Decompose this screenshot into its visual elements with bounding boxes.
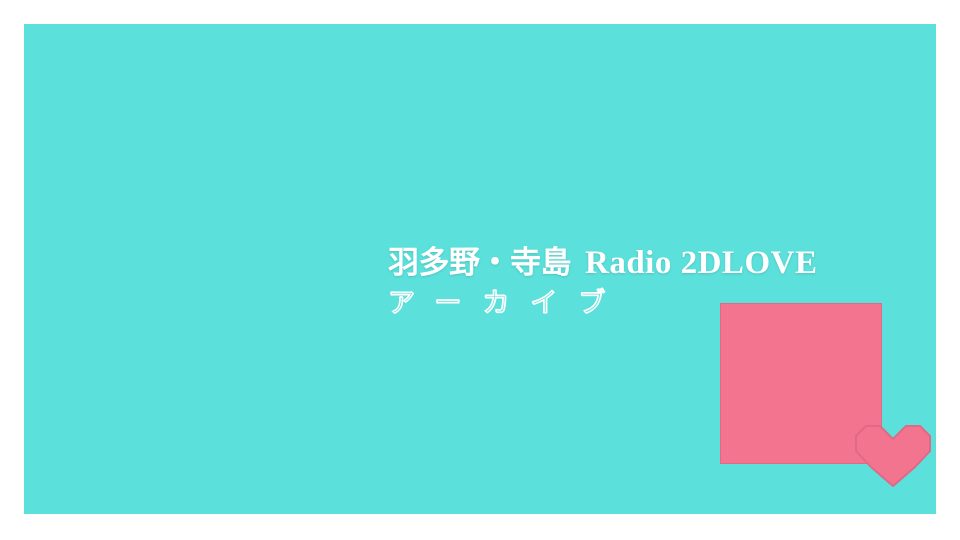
title-block: 羽多野・寺島Radio 2DLOVE アーカイブ [388,243,908,321]
page-subtitle: アーカイブ [388,287,908,321]
page-title: 羽多野・寺島Radio 2DLOVE [388,243,908,283]
teal-card-panel: 羽多野・寺島Radio 2DLOVE アーカイブ [24,24,936,514]
screen-canvas: 羽多野・寺島Radio 2DLOVE アーカイブ [0,0,960,540]
page-title-jp: 羽多野・寺島 [388,245,571,281]
page-title-en: Radio 2DLOVE [585,245,817,281]
heart-icon [852,422,934,488]
